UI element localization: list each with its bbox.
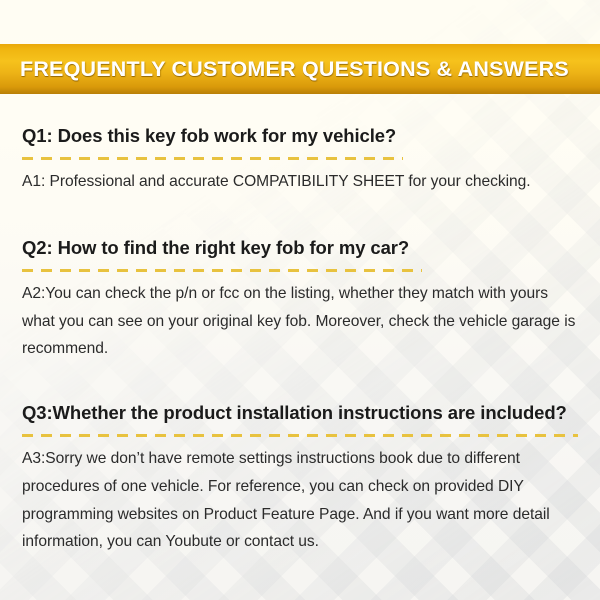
faq-page: FREQUENTLY CUSTOMER QUESTIONS & ANSWERS … <box>0 0 600 600</box>
faq-item-1: Q1: Does this key fob work for my vehicl… <box>0 94 600 196</box>
faq-divider-2 <box>22 269 422 272</box>
faq-header-banner: FREQUENTLY CUSTOMER QUESTIONS & ANSWERS <box>0 44 600 94</box>
faq-list: Q1: Does this key fob work for my vehicl… <box>0 94 600 556</box>
faq-item-3: Q3:Whether the product installation inst… <box>0 363 600 556</box>
faq-question-3: Q3:Whether the product installation inst… <box>22 401 582 425</box>
faq-divider-1 <box>22 157 403 160</box>
faq-answer-1: A1: Professional and accurate COMPATIBIL… <box>22 168 582 196</box>
faq-answer-2: A2:You can check the p/n or fcc on the l… <box>22 280 582 363</box>
faq-question-2: Q2: How to find the right key fob for my… <box>22 236 582 260</box>
faq-question-1: Q1: Does this key fob work for my vehicl… <box>22 124 582 148</box>
faq-answer-3: A3:Sorry we don’t have remote settings i… <box>22 445 582 556</box>
faq-divider-3 <box>22 434 578 437</box>
faq-item-2: Q2: How to find the right key fob for my… <box>0 196 600 363</box>
faq-header-title: FREQUENTLY CUSTOMER QUESTIONS & ANSWERS <box>0 57 569 82</box>
